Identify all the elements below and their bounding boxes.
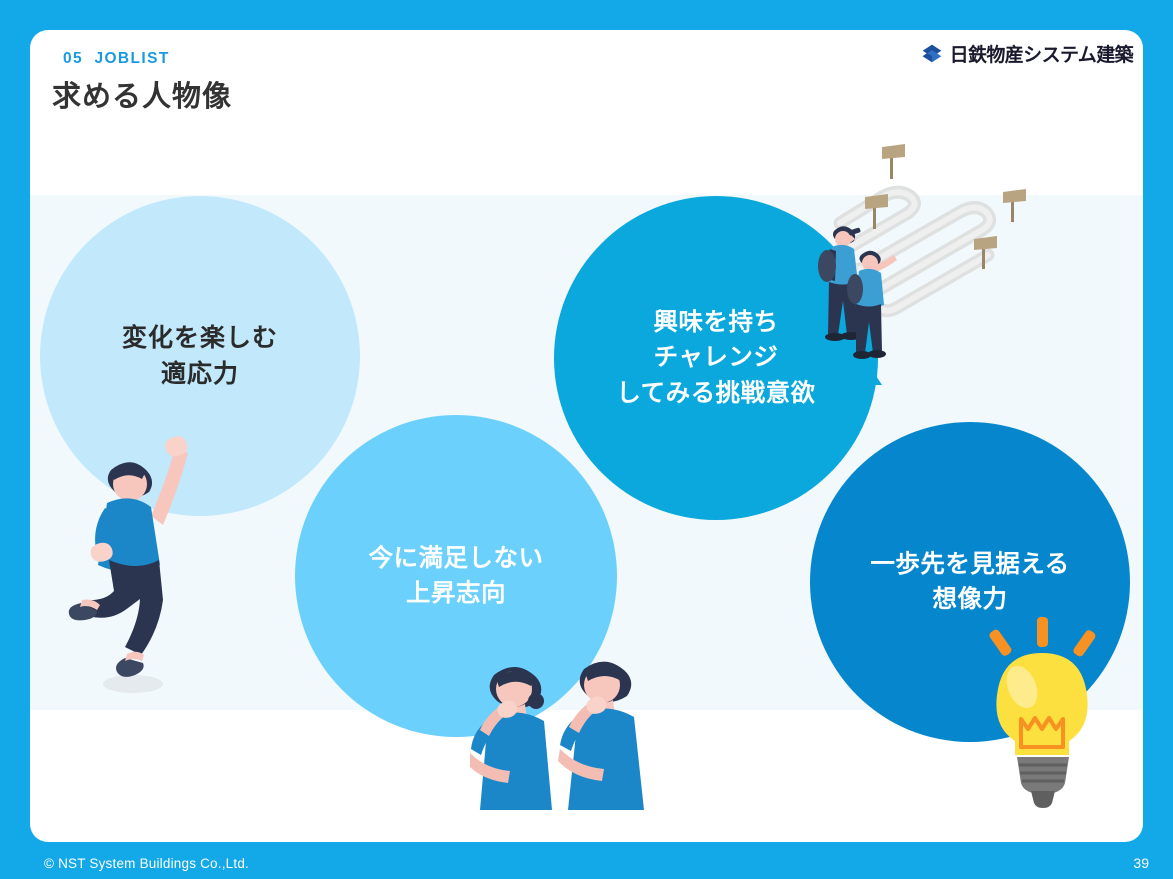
bubble-adaptability-label: 変化を楽しむ 適応力 (122, 320, 278, 392)
company-logo-text: 日鉄物産システム建築 (950, 40, 1133, 67)
bubble-challenge-label: 興味を持ち チャレンジ してみる挑戦意欲 (616, 305, 815, 411)
slide-card: 05 JOBLIST 求める人物像 日鉄物産システム建築 変化を楽しむ 適応力 … (30, 30, 1143, 842)
page-title: 求める人物像 (52, 73, 232, 115)
section-eyebrow: 05 JOBLIST (63, 50, 170, 68)
jumping-person-illustration (55, 420, 205, 710)
bubble-ambition-label: 今に満足しない 上昇志向 (369, 541, 544, 612)
hikers-winding-road-illustration (810, 135, 1045, 385)
slide-frame: 05 JOBLIST 求める人物像 日鉄物産システム建築 変化を楽しむ 適応力 … (0, 0, 1173, 879)
footer-page-number: 39 (1133, 855, 1149, 871)
two-thinking-people-illustration (470, 645, 675, 810)
company-logo: 日鉄物産システム建築 (921, 40, 1133, 67)
diamond-logo-icon (921, 43, 943, 65)
footer-copyright: © NST System Buildings Co.,Ltd. (44, 856, 249, 871)
bubble-imagination-label: 一歩先を見据える 想像力 (870, 547, 1069, 618)
lightbulb-illustration (975, 615, 1110, 815)
